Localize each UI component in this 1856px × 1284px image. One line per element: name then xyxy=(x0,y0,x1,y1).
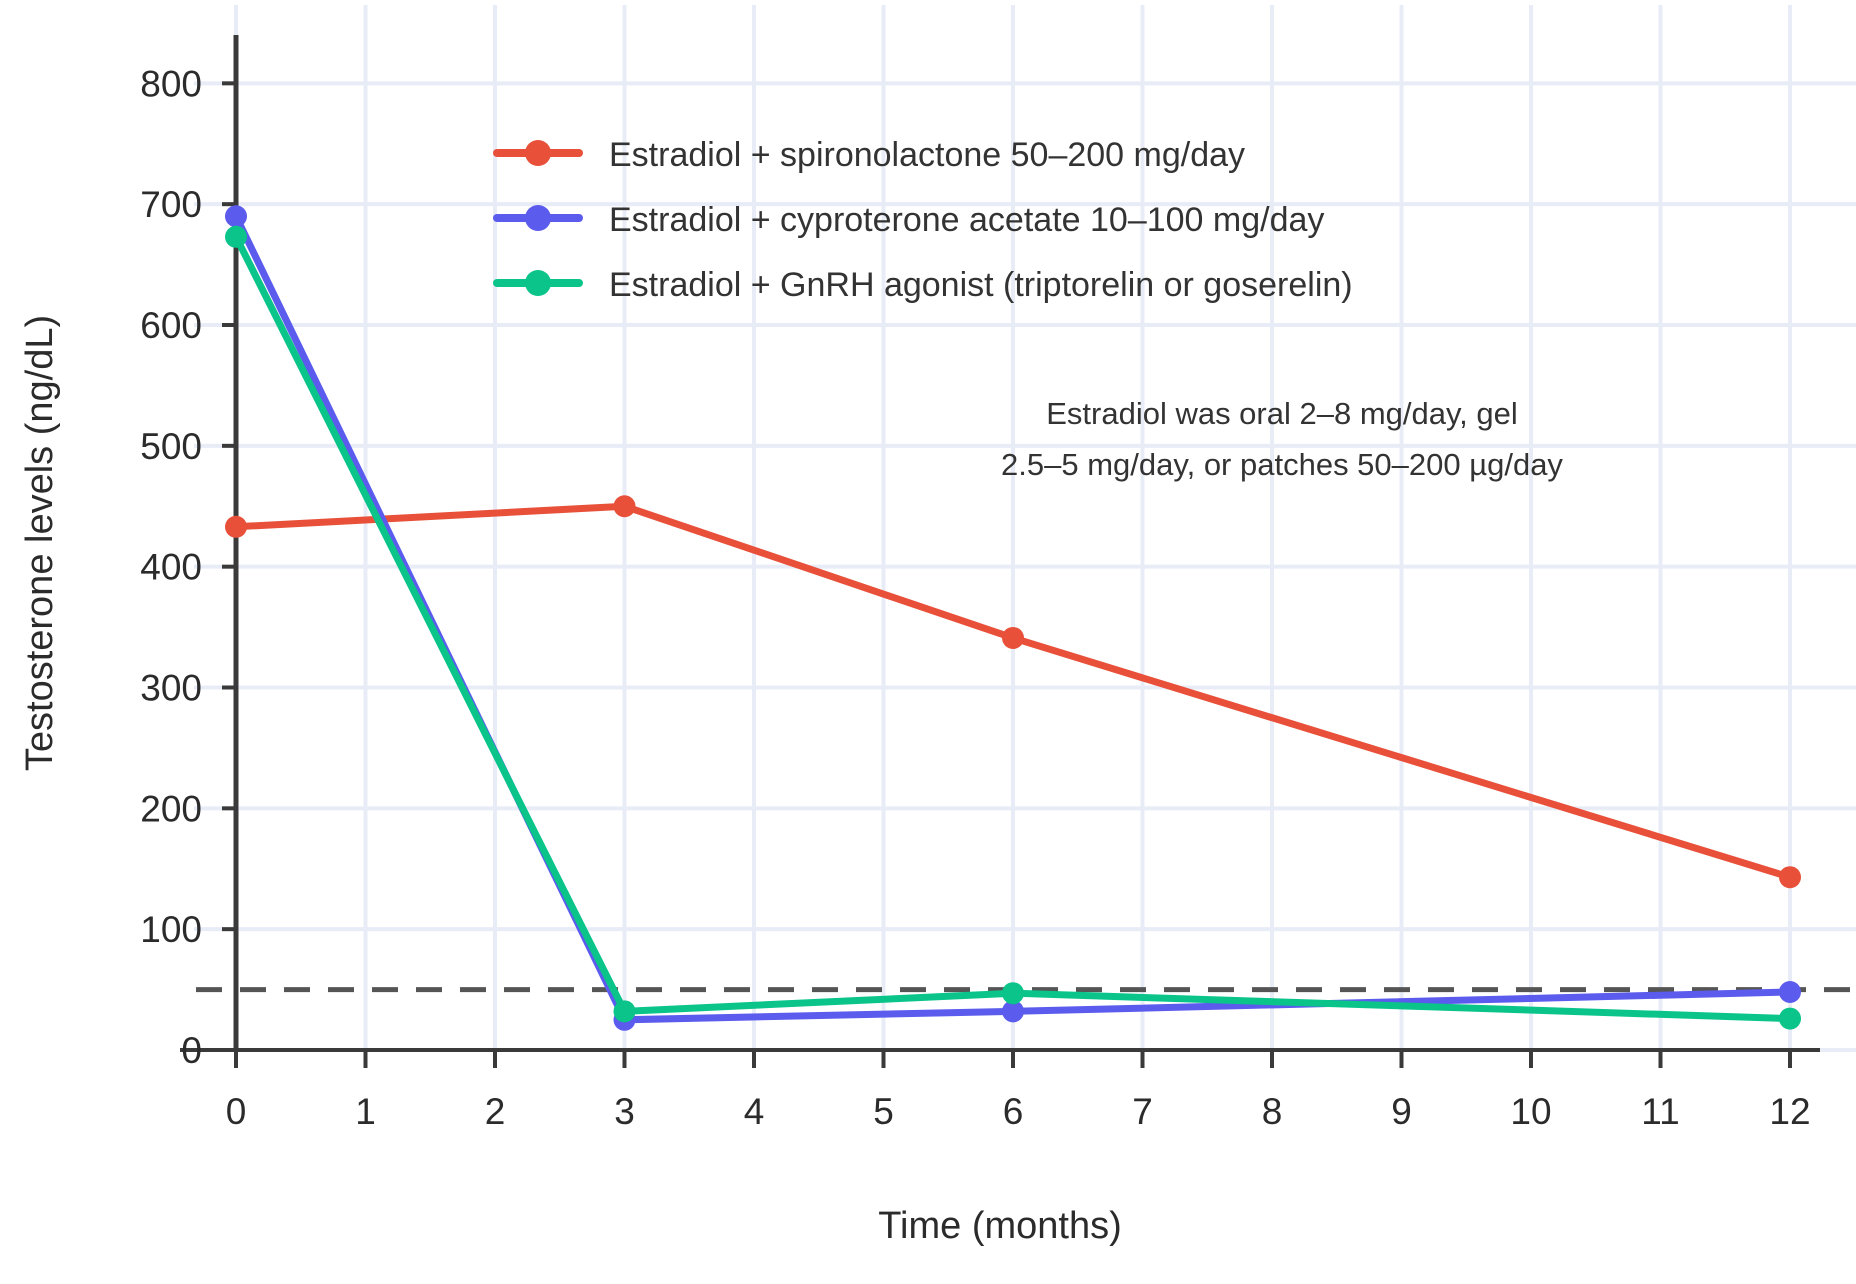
x-tick-label: 9 xyxy=(1391,1091,1412,1132)
data-point[interactable] xyxy=(1779,1008,1801,1030)
data-point[interactable] xyxy=(1002,627,1024,649)
legend-item-1[interactable]: Estradiol + spironolactone 50–200 mg/day xyxy=(497,136,1245,174)
annotation-line-1: Estradiol was oral 2–8 mg/day, gel xyxy=(1046,396,1518,431)
legend-swatch-marker xyxy=(525,205,551,231)
y-tick-label: 500 xyxy=(140,426,202,467)
legend-item-label: Estradiol + GnRH agonist (triptorelin or… xyxy=(609,266,1353,304)
legend-item-2[interactable]: Estradiol + cyproterone acetate 10–100 m… xyxy=(497,201,1324,239)
data-point[interactable] xyxy=(1779,981,1801,1003)
legend-swatch-marker xyxy=(525,140,551,166)
x-tick-label: 3 xyxy=(614,1091,635,1132)
x-tick-label: 4 xyxy=(744,1091,765,1132)
x-tick-label: 10 xyxy=(1510,1091,1551,1132)
x-tick-label: 11 xyxy=(1641,1091,1679,1132)
data-point[interactable] xyxy=(614,495,636,517)
legend-item-3[interactable]: Estradiol + GnRH agonist (triptorelin or… xyxy=(497,266,1353,304)
chart-container: 0100200300400500600700800 01234567891011… xyxy=(0,0,1856,1284)
chart-legend: Estradiol + spironolactone 50–200 mg/day… xyxy=(497,136,1353,304)
x-tick-label: 1 xyxy=(355,1091,376,1132)
annotation-line-2: 2.5–5 mg/day, or patches 50–200 µg/day xyxy=(1001,447,1563,482)
y-tick-label: 100 xyxy=(140,909,202,950)
y-tick-label: 0 xyxy=(181,1030,202,1071)
x-tick-label: 0 xyxy=(226,1091,247,1132)
x-axis-title: Time (months) xyxy=(878,1205,1122,1247)
y-tick-label: 800 xyxy=(140,63,202,104)
x-tick-label: 7 xyxy=(1132,1091,1153,1132)
legend-item-label: Estradiol + cyproterone acetate 10–100 m… xyxy=(609,201,1324,239)
y-tick-label: 300 xyxy=(140,668,202,709)
y-tick-label: 200 xyxy=(140,788,202,829)
y-tick-label: 400 xyxy=(140,547,202,588)
data-point[interactable] xyxy=(225,516,247,538)
legend-swatch-marker xyxy=(525,270,551,296)
y-tick-label: 700 xyxy=(140,184,202,225)
data-point[interactable] xyxy=(614,1000,636,1022)
x-tick-label: 8 xyxy=(1262,1091,1283,1132)
y-axis-title: Testosterone levels (ng/dL) xyxy=(19,315,61,771)
x-tick-label: 2 xyxy=(485,1091,506,1132)
line-chart: 0100200300400500600700800 01234567891011… xyxy=(0,0,1856,1284)
data-point[interactable] xyxy=(1002,982,1024,1004)
data-point[interactable] xyxy=(225,205,247,227)
data-point[interactable] xyxy=(1779,866,1801,888)
x-tick-label: 6 xyxy=(1003,1091,1024,1132)
chart-background xyxy=(0,0,1856,1284)
y-tick-label: 600 xyxy=(140,305,202,346)
x-tick-label: 12 xyxy=(1769,1091,1810,1132)
x-tick-label: 5 xyxy=(873,1091,894,1132)
legend-item-label: Estradiol + spironolactone 50–200 mg/day xyxy=(609,136,1245,174)
data-point[interactable] xyxy=(225,226,247,248)
